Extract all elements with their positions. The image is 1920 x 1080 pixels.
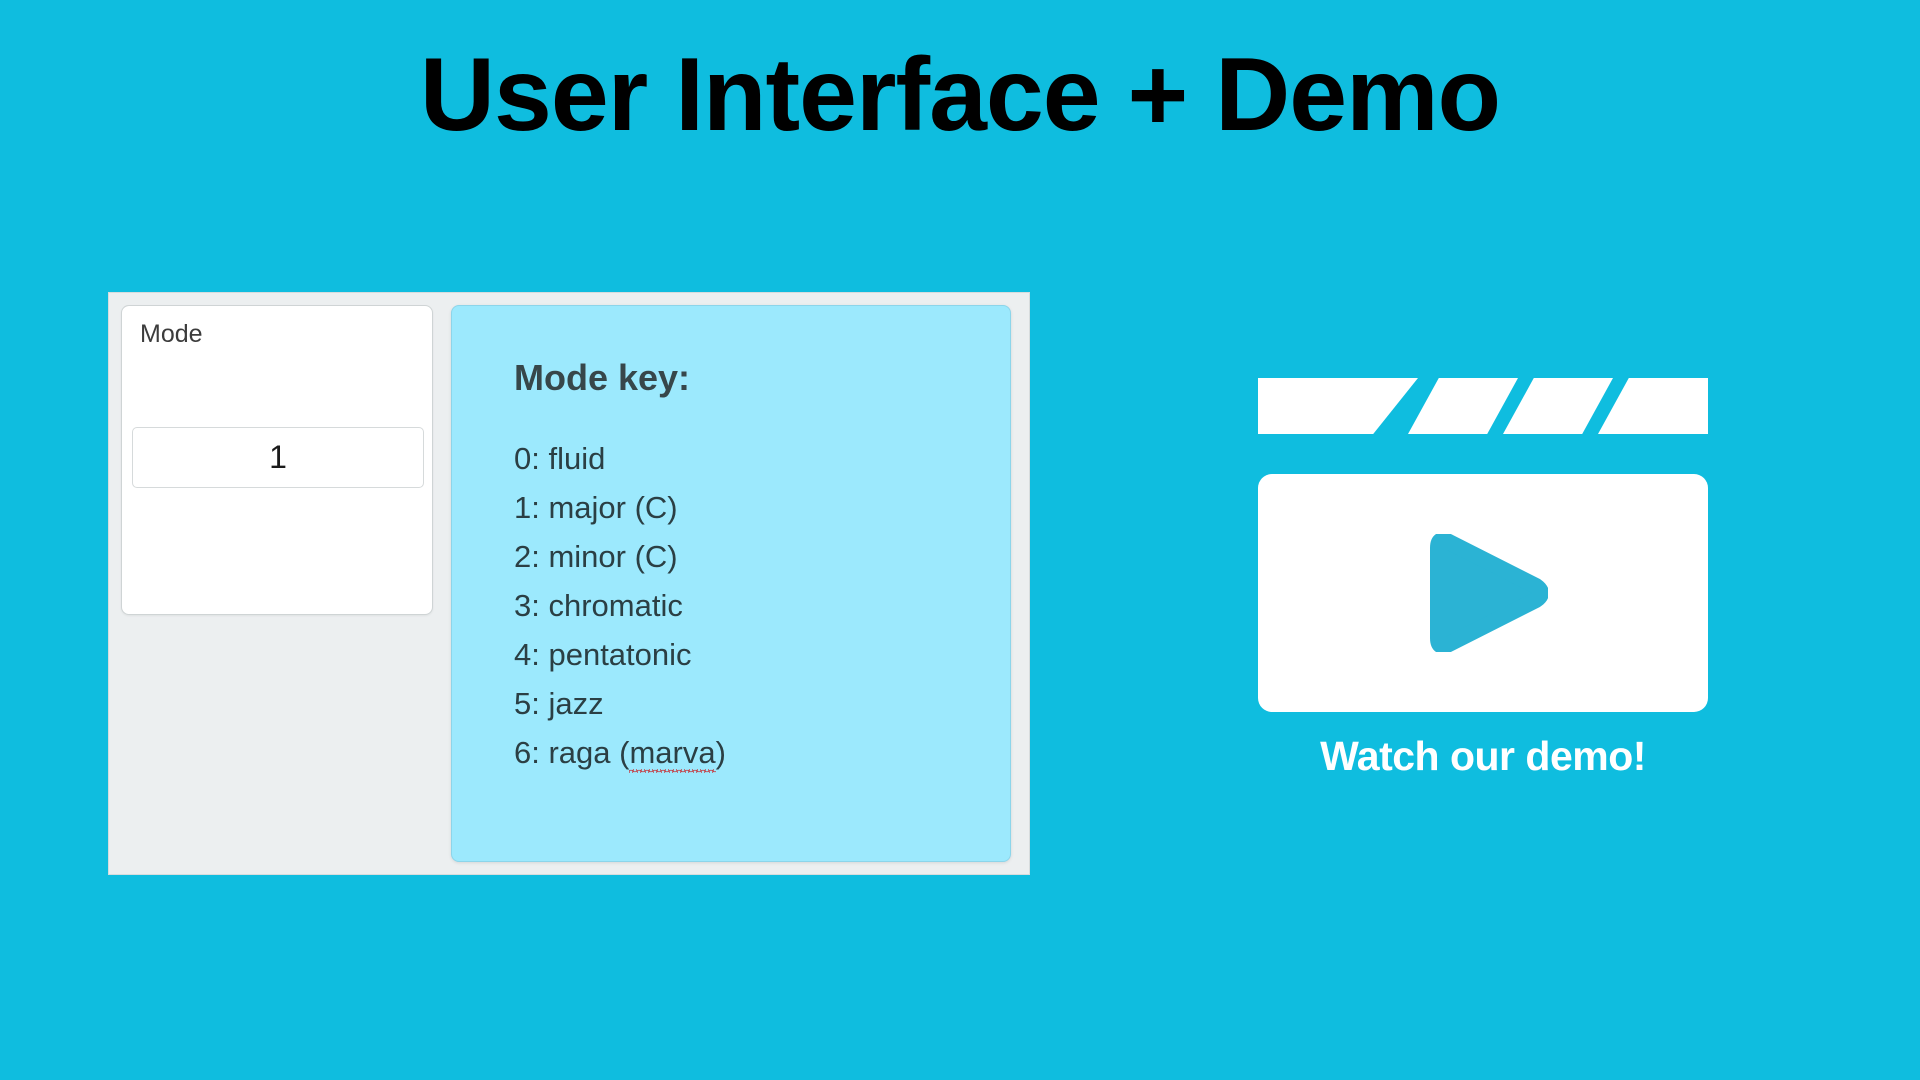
- list-item-suffix: ): [716, 735, 726, 770]
- list-item: 2: minor (C): [514, 532, 1010, 581]
- clapperboard-body[interactable]: [1258, 474, 1708, 712]
- mode-panel: Mode: [121, 305, 433, 615]
- clapper-stripe-4: [1598, 378, 1708, 434]
- clapper-stripe-2: [1408, 378, 1518, 434]
- mode-key-panel: Mode key: 0: fluid 1: major (C) 2: minor…: [451, 305, 1011, 862]
- list-item: 4: pentatonic: [514, 630, 1010, 679]
- mode-label: Mode: [140, 322, 203, 347]
- spellcheck-underlined-word: marva: [629, 735, 715, 773]
- play-icon[interactable]: [1418, 534, 1548, 652]
- list-item: 5: jazz: [514, 679, 1010, 728]
- mode-key-list: 0: fluid 1: major (C) 2: minor (C) 3: ch…: [514, 434, 1010, 777]
- list-item: 1: major (C): [514, 483, 1010, 532]
- list-item: 0: fluid: [514, 434, 1010, 483]
- list-item-prefix: 6: raga (: [514, 735, 629, 770]
- list-item-misspelled: 6: raga (marva): [514, 728, 1010, 777]
- clapperboard-play-icon[interactable]: [1258, 378, 1708, 723]
- clapperboard-top-bar: [1258, 378, 1708, 434]
- list-item: 3: chromatic: [514, 581, 1010, 630]
- mode-key-heading: Mode key:: [514, 360, 1010, 396]
- clapper-stripe-3: [1503, 378, 1613, 434]
- demo-caption: Watch our demo!: [1258, 733, 1708, 780]
- clapper-stripe-1: [1258, 378, 1418, 434]
- mode-input[interactable]: [132, 427, 424, 488]
- app-window: Mode Mode key: 0: fluid 1: major (C) 2: …: [108, 292, 1030, 875]
- page-title: User Interface + Demo: [0, 38, 1920, 152]
- demo-cta[interactable]: Watch our demo!: [1258, 378, 1708, 780]
